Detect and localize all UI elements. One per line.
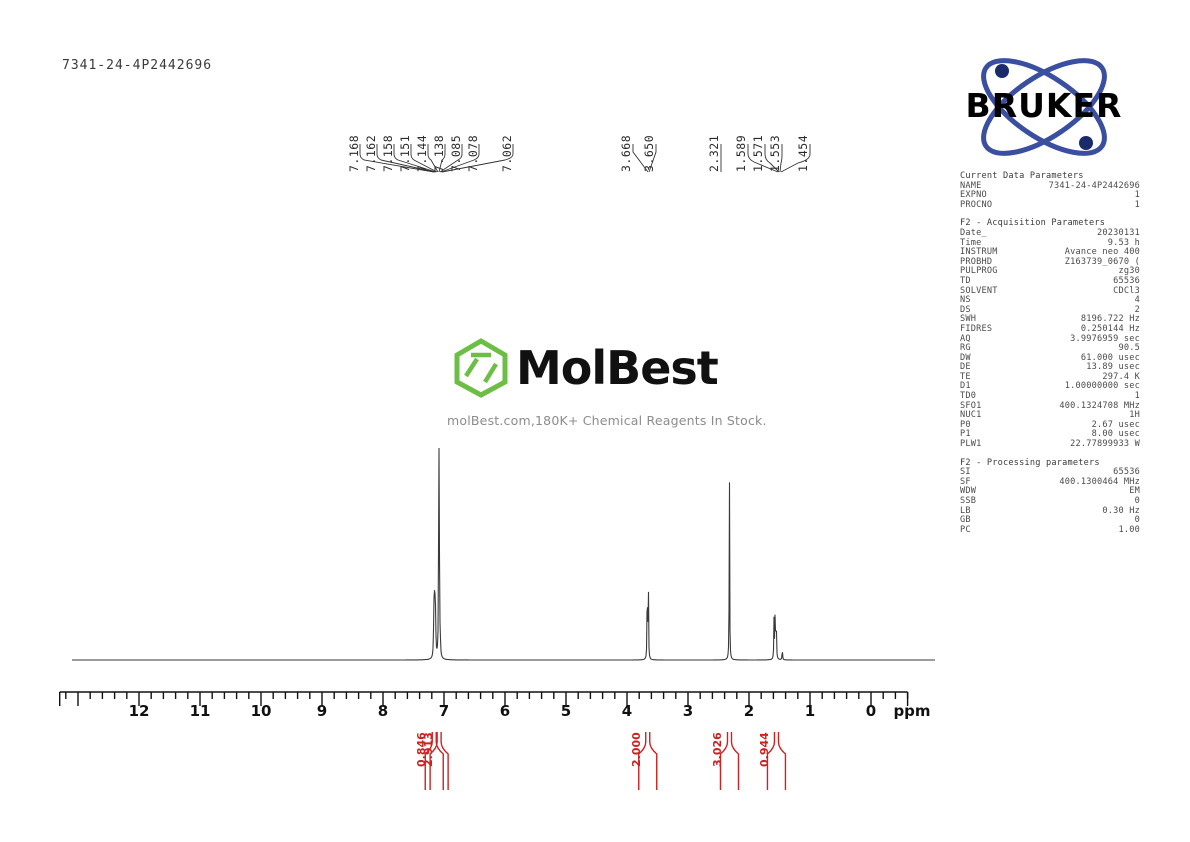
ppm-axis-unit-label: ppm xyxy=(893,702,930,720)
parameter-value: 400.1324708 MHz xyxy=(1059,402,1140,412)
parameter-value: 7341-24-4P2442696 xyxy=(1049,182,1140,192)
parameter-row: PROCNO1 xyxy=(960,201,1140,211)
axis-tick-label: 6 xyxy=(500,702,510,720)
axis-tick-label: 1 xyxy=(805,702,815,720)
axis-tick-label: 11 xyxy=(190,702,211,720)
peak-label-leader-lines-methylene xyxy=(628,142,674,174)
parameter-row: NAME7341-24-4P2442696 xyxy=(960,182,1140,192)
parameter-row: D11.00000000 sec xyxy=(960,382,1140,392)
axis-tick-label: 9 xyxy=(317,702,327,720)
integral-label: 0.944 xyxy=(758,732,771,767)
integral-label: 2.913 xyxy=(422,732,435,767)
sample-title: 7341-24-4P2442696 xyxy=(62,58,212,73)
params-section1-rows: NAME7341-24-4P2442696EXPNO1PROCNO1 xyxy=(960,182,1140,211)
parameter-row: NS4 xyxy=(960,296,1140,306)
axis-tick-label: 2 xyxy=(744,702,754,720)
parameter-value: 1 xyxy=(1135,201,1140,211)
axis-tick-label: 10 xyxy=(251,702,272,720)
axis-tick-label: 8 xyxy=(378,702,388,720)
integral-label: 3.026 xyxy=(711,732,724,767)
parameter-value: 1.00000000 sec xyxy=(1065,382,1140,392)
hexagon-icon xyxy=(452,338,510,398)
axis-tick-label: 0 xyxy=(866,702,876,720)
parameter-key: PROCNO xyxy=(960,201,992,211)
bruker-logo: BRUKER xyxy=(958,55,1130,160)
axis-tick-label: 5 xyxy=(561,702,571,720)
bruker-wordmark: BRUKER xyxy=(966,86,1123,125)
integral-label: 2.000 xyxy=(630,732,643,767)
axis-tick-label: 12 xyxy=(129,702,150,720)
axis-tick-label: 3 xyxy=(683,702,693,720)
molbest-wordmark: MolBest xyxy=(516,341,718,395)
parameter-row: SFO1400.1324708 MHz xyxy=(960,402,1140,412)
parameter-row: AQ3.9976959 sec xyxy=(960,335,1140,345)
axis-tick-label: 4 xyxy=(622,702,632,720)
params-section2-rows: Date_20230131Time9.53 hINSTRUMAvance neo… xyxy=(960,229,1140,450)
nmr-spectrum-trace xyxy=(0,430,1190,680)
integral-value-labels: 0.8462.9132.0003.0260.944 xyxy=(0,728,1190,808)
axis-tick-label: 7 xyxy=(439,702,449,720)
peak-label-leader-lines-upfield xyxy=(716,142,821,174)
peak-label-leader-lines-aromatic xyxy=(355,142,525,174)
parameter-row: SOLVENTCDCl3 xyxy=(960,287,1140,297)
spectrum-polyline xyxy=(72,448,935,660)
molbest-tagline: molBest.com,180K+ Chemical Reagents In S… xyxy=(447,413,767,428)
molbest-watermark: MolBest xyxy=(452,338,718,398)
